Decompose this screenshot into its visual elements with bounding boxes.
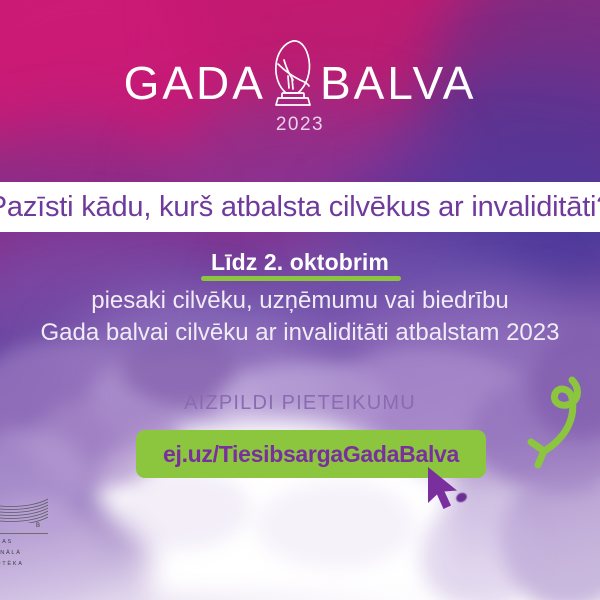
logo-divider (0, 533, 48, 534)
headline-banner: Pazīsti kādu, kurš atbalsta cilvēkus ar … (0, 182, 600, 232)
page-title: Pazīsti kādu, kurš atbalsta cilvēkus ar … (0, 191, 600, 224)
logo-name-line-1: LATVIJAS (0, 537, 52, 548)
wordmark: GADA BALVA (0, 44, 600, 108)
deadline-underline (201, 276, 401, 281)
promotional-poster: GADA BALVA 2023 Pazīsti kādu, kurš atbal… (0, 0, 600, 600)
cta-label: AIZPILDI PIETEIKUMU (0, 392, 600, 415)
logo-name-line-3: BIBLIOTĒKA (0, 559, 52, 570)
deadline-text: Līdz 2. oktobrim (207, 249, 393, 280)
logo-initials: N B (0, 523, 41, 529)
trophy-icon (262, 46, 324, 108)
apply-link-button[interactable]: ej.uz/TiesibsargaGadaBalva (136, 430, 486, 478)
logo-name-line-2: NACIONĀLĀ (0, 548, 52, 559)
library-logo: N B LATVIJAS NACIONĀLĀ BIBLIOTĒKA (0, 497, 52, 570)
body-line-1: piesaki cilvēku, uzņēmumu vai biedrību (0, 285, 600, 317)
white-negative-space (150, 470, 450, 600)
wordmark-balva: BALVA (320, 60, 476, 106)
brand-lockup: GADA BALVA 2023 (0, 44, 600, 136)
brand-year: 2023 (0, 114, 600, 136)
body-copy: piesaki cilvēku, uzņēmumu vai biedrību G… (0, 285, 600, 348)
wordmark-gada: GADA (124, 60, 266, 106)
deadline-label: Līdz 2. oktobrim (211, 249, 389, 275)
deadline-block: Līdz 2. oktobrim (0, 249, 600, 280)
logo-initial-b: B (36, 523, 41, 529)
body-line-2: Gada balvai cilvēku ar invaliditāti atba… (0, 317, 600, 349)
